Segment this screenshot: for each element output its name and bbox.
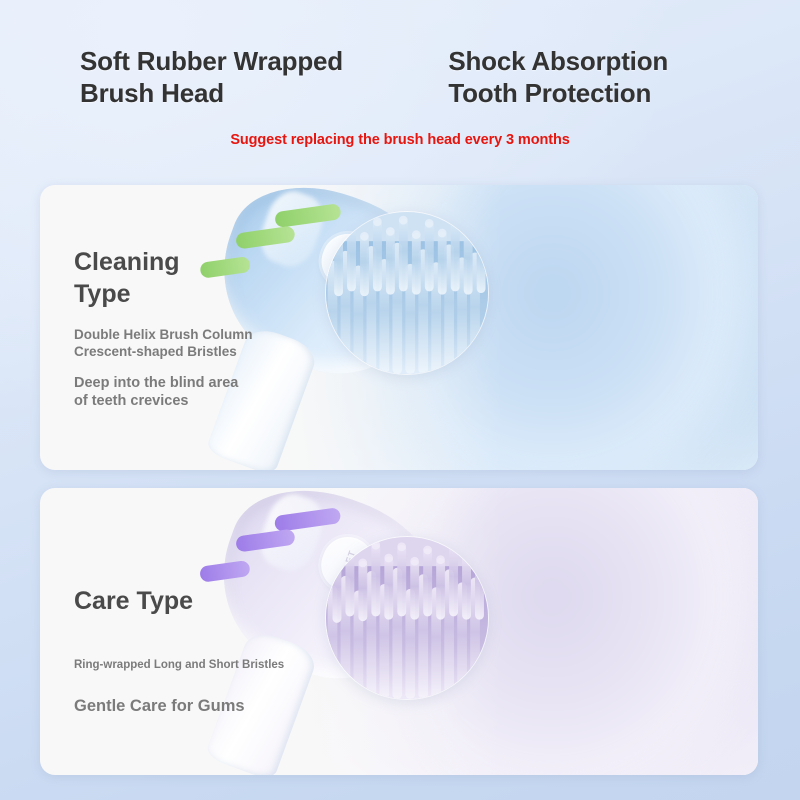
headline-row: Soft Rubber Wrapped Brush Head Shock Abs… xyxy=(0,46,800,110)
feature-secondary-care: Gentle Care for Gums xyxy=(74,696,399,717)
card-inner: CLEAN xyxy=(40,185,758,470)
headline-left: Soft Rubber Wrapped Brush Head xyxy=(80,46,448,110)
card-title-care: Care Type xyxy=(74,586,399,618)
feature-card-care: SOFT xyxy=(40,488,758,775)
replacement-advice-text: Suggest replacing the brush head every 3… xyxy=(0,132,800,148)
card-inner: SOFT xyxy=(40,488,758,775)
feature-secondary-cleaning: Deep into the blind area of teeth crevic… xyxy=(74,374,399,412)
feature-primary-cleaning: Double Helix Brush Column Crescent-shape… xyxy=(74,326,399,361)
feature-primary-care: Ring-wrapped Long and Short Bristles xyxy=(74,658,399,673)
care-text-panel: Care Type Ring-wrapped Long and Short Br… xyxy=(74,586,399,718)
headline-right: Shock Absorption Tooth Protection xyxy=(448,46,760,110)
product-feature-page: Soft Rubber Wrapped Brush Head Shock Abs… xyxy=(0,0,800,800)
cleaning-text-panel: Cleaning Type Double Helix Brush Column … xyxy=(74,247,399,411)
feature-card-cleaning: CLEAN xyxy=(40,185,758,470)
card-title-cleaning: Cleaning Type xyxy=(74,247,399,310)
